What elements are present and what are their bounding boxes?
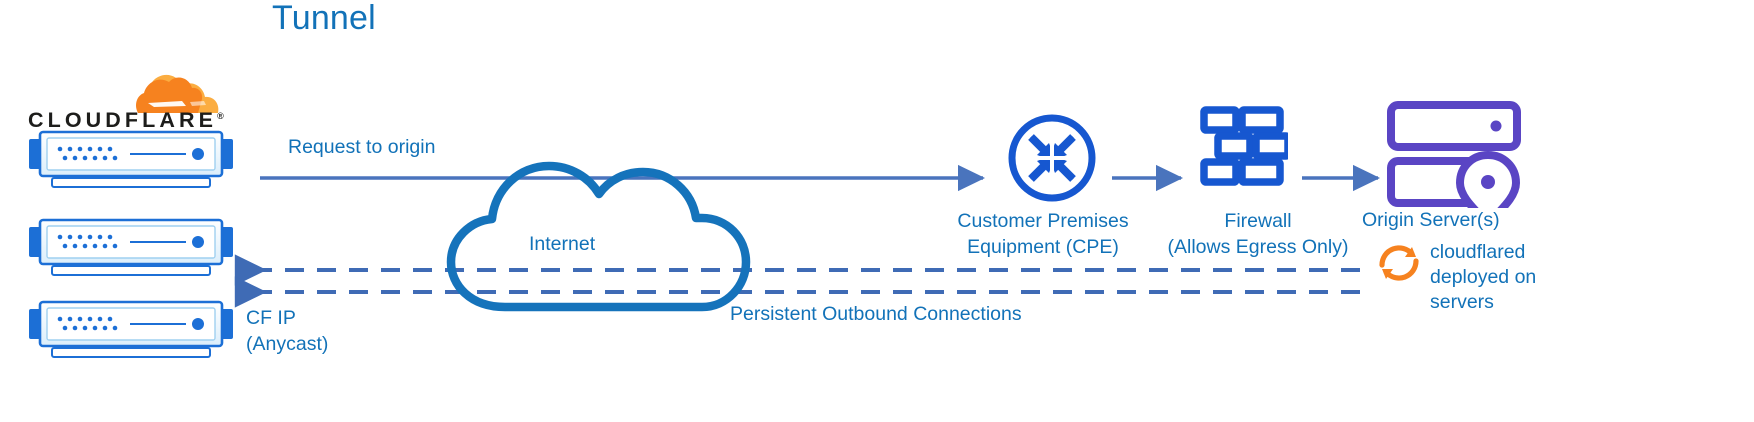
cf-ip-line1: CF IP [246,305,396,331]
brick-wall-icon [1196,104,1288,196]
rack-server-icon [26,300,236,362]
annotation-cloudflared: cloudflared deployed on servers [1430,240,1550,315]
cf-ip-line2: (Anycast) [246,331,396,357]
cpe-line2: Equipment (CPE) [946,234,1140,260]
cloudflared-line1: cloudflared [1430,240,1550,265]
node-label-cpe: Customer Premises Equipment (CPE) [946,208,1140,260]
cloudflare-wordmark-text: CLOUDFLARE [28,108,217,132]
rack-server-icon [26,130,236,192]
firewall-line1: Firewall [1152,208,1364,234]
node-label-origin-servers: Origin Server(s) [1362,208,1542,233]
sync-refresh-icon [1374,238,1424,288]
node-label-internet: Internet [529,232,595,257]
cloud-icon [451,166,746,307]
converging-arrows-circle-icon [1006,112,1098,204]
trademark-symbol: ® [217,111,228,121]
cpe-line1: Customer Premises [946,208,1140,234]
server-location-pin-icon [1386,100,1522,208]
page-title: Tunnel [272,6,376,31]
rack-server-icon [26,218,236,280]
connector-label-persistent-outbound: Persistent Outbound Connections [730,302,1022,327]
cloudflare-logo: CLOUDFLARE® [28,72,228,132]
cloudflared-line3: servers [1430,290,1550,315]
connector-label-request-to-origin: Request to origin [288,135,435,160]
tunnel-diagram-canvas: Tunnel CLOUDFLARE® [0,0,1754,422]
node-label-firewall: Firewall (Allows Egress Only) [1152,208,1364,260]
node-label-cf-ip: CF IP (Anycast) [246,305,396,357]
firewall-line2: (Allows Egress Only) [1152,234,1364,260]
cloudflared-line2: deployed on [1430,265,1550,290]
